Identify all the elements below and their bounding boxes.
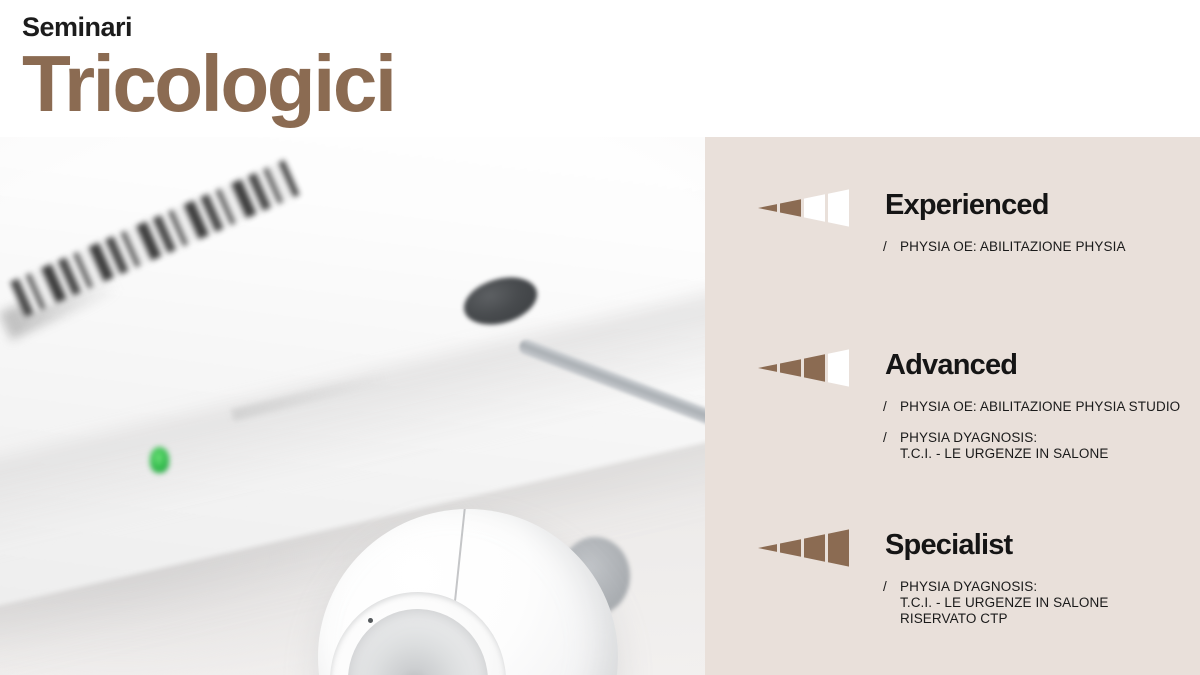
level-item-advanced: Advanced / PHYSIA OE: ABILITAZIONE PHYSI… (705, 345, 1200, 393)
kicker-text: Seminari (22, 14, 1200, 41)
level-item-experienced: Experienced / PHYSIA OE: ABILITAZIONE PH… (705, 185, 1200, 233)
slash-bullet-icon: / (883, 579, 900, 627)
level-bullets: / PHYSIA DYAGNOSIS: T.C.I. - LE URGENZE … (883, 579, 1200, 642)
level-item-specialist: Specialist / PHYSIA DYAGNOSIS: T.C.I. - … (705, 525, 1200, 573)
level-bullets: / PHYSIA OE: ABILITAZIONE PHYSIA STUDIO … (883, 399, 1200, 477)
slide-root: Seminari Tricologici (0, 0, 1200, 675)
level-bullets: / PHYSIA OE: ABILITAZIONE PHYSIA (883, 239, 1200, 270)
page-title: Tricologici (22, 45, 1200, 123)
bullet-text: PHYSIA OE: ABILITAZIONE PHYSIA (900, 239, 1126, 255)
wedge-meter-icon (758, 188, 850, 228)
list-item: / PHYSIA DYAGNOSIS: T.C.I. - LE URGENZE … (883, 430, 1200, 462)
bullet-text: PHYSIA OE: ABILITAZIONE PHYSIA STUDIO (900, 399, 1180, 415)
slash-bullet-icon: / (883, 399, 900, 415)
slash-bullet-icon: / (883, 430, 900, 462)
levels-panel: Experienced / PHYSIA OE: ABILITAZIONE PH… (705, 137, 1200, 675)
list-item: / PHYSIA DYAGNOSIS: T.C.I. - LE URGENZE … (883, 579, 1200, 627)
level-title: Specialist (885, 525, 1012, 565)
lens-screw (368, 618, 373, 623)
header-band: Seminari Tricologici (0, 0, 1200, 137)
slash-bullet-icon: / (883, 239, 900, 255)
green-led-indicator-icon (150, 447, 169, 473)
list-item: / PHYSIA OE: ABILITAZIONE PHYSIA STUDIO (883, 399, 1200, 415)
list-item: / PHYSIA OE: ABILITAZIONE PHYSIA (883, 239, 1200, 255)
product-photo (0, 137, 705, 675)
wedge-meter-icon (758, 528, 850, 568)
level-header: Specialist (705, 525, 1200, 573)
level-title: Advanced (885, 345, 1017, 385)
level-title: Experienced (885, 185, 1049, 225)
level-header: Experienced (705, 185, 1200, 233)
bullet-text: PHYSIA DYAGNOSIS: T.C.I. - LE URGENZE IN… (900, 579, 1108, 627)
bullet-text: PHYSIA DYAGNOSIS: T.C.I. - LE URGENZE IN… (900, 430, 1108, 462)
wedge-meter-icon (758, 348, 850, 388)
level-header: Advanced (705, 345, 1200, 393)
